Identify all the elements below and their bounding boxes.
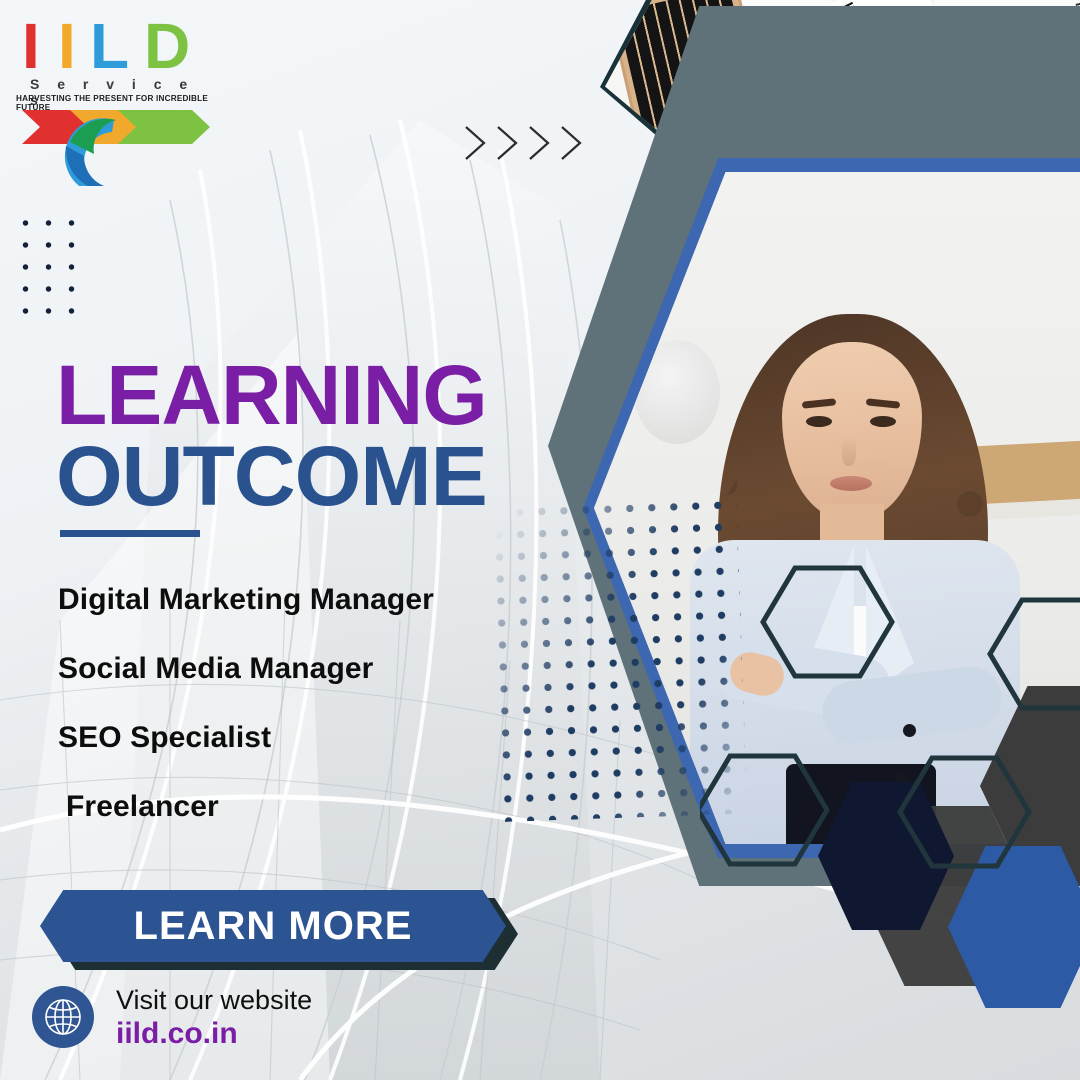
list-item: Freelancer	[66, 790, 528, 824]
website-url[interactable]: iild.co.in	[116, 1016, 312, 1052]
logo-arrows-swirl-icon	[14, 106, 214, 186]
logo-letter-i1: I	[22, 14, 40, 78]
list-item: Social Media Manager	[58, 652, 528, 686]
logo-letter-i2: I	[58, 14, 76, 78]
page-title: LEARNING OUTCOME	[56, 355, 487, 517]
globe-icon	[32, 986, 94, 1048]
title-underline-rule	[60, 530, 200, 537]
list-item: SEO Specialist	[58, 721, 528, 755]
logo-letters: I I L D	[14, 14, 214, 84]
learn-more-button[interactable]: LEARN MORE	[40, 890, 506, 962]
chevron-right-icon-group	[460, 118, 590, 168]
brand-logo[interactable]: I I L D S e r v i c e s HARVESTING THE P…	[14, 14, 214, 174]
list-item: Digital Marketing Manager	[58, 583, 528, 617]
headline-line-2: OUTCOME	[56, 435, 495, 517]
poster-canvas: I I L D S e r v i c e s HARVESTING THE P…	[0, 0, 1080, 1080]
learn-more-label: LEARN MORE	[134, 904, 413, 949]
headline-line-1: LEARNING	[56, 355, 487, 435]
outcome-list: Digital Marketing Manager Social Media M…	[58, 583, 528, 859]
visit-label: Visit our website	[116, 984, 312, 1016]
website-info[interactable]: Visit our website iild.co.in	[116, 984, 312, 1052]
dot-grid-pattern	[14, 212, 86, 322]
logo-letter-d: D	[144, 14, 190, 78]
outline-hexagon-group	[700, 560, 1080, 1000]
logo-letter-l: L	[90, 14, 129, 78]
